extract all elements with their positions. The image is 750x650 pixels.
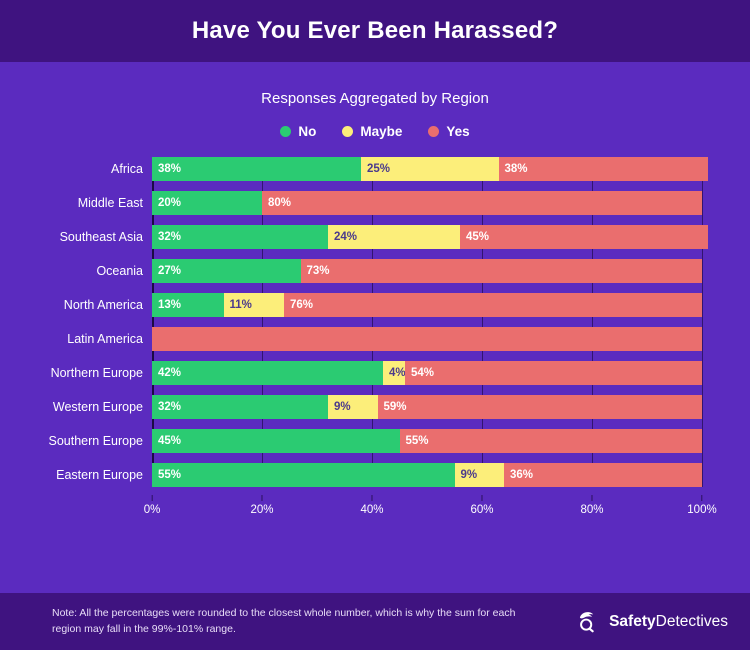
x-tick-mark: [372, 495, 373, 501]
detective-logo-icon: [576, 609, 601, 634]
bar-segment-maybe[interactable]: 25%: [361, 157, 499, 181]
row-label-northern-europe: Northern Europe: [51, 361, 143, 385]
bar-row[interactable]: Western Europe32%9%59%: [152, 395, 702, 419]
brand-logo[interactable]: SafetyDetectives: [576, 609, 728, 634]
bar-segment-no[interactable]: 13%: [152, 293, 224, 317]
chart-subtitle: Responses Aggregated by Region: [0, 90, 750, 107]
stacked-bar: 13%11%76%: [152, 293, 702, 317]
bar-segment-value: 20%: [152, 197, 181, 209]
bar-segment-value: 32%: [152, 231, 181, 243]
row-label-north-america: North America: [64, 293, 143, 317]
bar-segment-value: 59%: [378, 401, 407, 413]
stacked-bar: 32%9%59%: [152, 395, 702, 419]
legend-dot-icon: [342, 126, 353, 137]
header-band: Have You Ever Been Harassed?: [0, 0, 750, 62]
x-tick-60: 60%: [470, 495, 493, 516]
bar-segment-value: 55%: [152, 469, 181, 481]
bar-segment-maybe[interactable]: 24%: [328, 225, 460, 249]
x-tick-label: 20%: [250, 504, 273, 516]
legend-label: Maybe: [360, 124, 402, 139]
x-tick-label: 60%: [470, 504, 493, 516]
bar-segment-value: 42%: [152, 367, 181, 379]
bar-segment-value: 24%: [328, 231, 357, 243]
bar-row[interactable]: Southeast Asia32%24%45%: [152, 225, 702, 249]
legend-label: No: [298, 124, 316, 139]
bar-segment-value: 80%: [262, 197, 291, 209]
bar-row[interactable]: Middle East20%80%: [152, 191, 702, 215]
x-axis: 0%20%40%60%80%100%: [152, 495, 702, 525]
x-tick-label: 100%: [687, 504, 716, 516]
x-tick-mark: [701, 495, 702, 501]
bar-segment-value: 9%: [328, 401, 351, 413]
gridline-100: [702, 157, 703, 487]
bar-segment-maybe[interactable]: 4%: [383, 361, 405, 385]
row-label-oceania: Oceania: [96, 259, 143, 283]
bar-segment-value: 76%: [284, 299, 313, 311]
plot-wrapper: Africa38%25%38%Middle East20%80%Southeas…: [0, 157, 750, 525]
legend-dot-icon: [428, 126, 439, 137]
bar-segment-no[interactable]: 55%: [152, 463, 455, 487]
x-tick-40: 40%: [360, 495, 383, 516]
x-tick-label: 0%: [144, 504, 161, 516]
bar-segment-value: 45%: [152, 435, 181, 447]
bar-segment-yes[interactable]: 54%: [405, 361, 702, 385]
bar-segment-value: 36%: [504, 469, 533, 481]
bar-segment-yes[interactable]: 38%: [499, 157, 708, 181]
bar-segment-value: 55%: [400, 435, 429, 447]
x-tick-mark: [592, 495, 593, 501]
bar-segment-value: 9%: [455, 469, 478, 481]
bar-segment-no[interactable]: 45%: [152, 429, 400, 453]
row-label-africa: Africa: [111, 157, 143, 181]
stacked-bar: 27%73%: [152, 259, 702, 283]
legend-item-no[interactable]: No: [280, 124, 316, 139]
bar-segment-yes[interactable]: 73%: [301, 259, 703, 283]
row-label-eastern-europe: Eastern Europe: [56, 463, 143, 487]
bar-segment-yes[interactable]: 76%: [284, 293, 702, 317]
bar-segment-yes[interactable]: 55%: [400, 429, 703, 453]
stacked-bar: 20%80%: [152, 191, 702, 215]
bar-segment-no[interactable]: 32%: [152, 225, 328, 249]
bar-row[interactable]: Latin America: [152, 327, 702, 351]
bar-segment-yes[interactable]: 80%: [262, 191, 702, 215]
row-label-western-europe: Western Europe: [53, 395, 143, 419]
stacked-bar: [152, 327, 702, 351]
footer-note: Note: All the percentages were rounded t…: [52, 606, 522, 636]
x-tick-20: 20%: [250, 495, 273, 516]
chart-body: Responses Aggregated by Region NoMaybeYe…: [0, 62, 750, 593]
stacked-bar: 32%24%45%: [152, 225, 708, 249]
x-tick-mark: [262, 495, 263, 501]
bar-segment-yes[interactable]: [152, 327, 702, 351]
row-label-latin-america: Latin America: [67, 327, 143, 351]
bar-segment-value: 13%: [152, 299, 181, 311]
bar-segment-value: 27%: [152, 265, 181, 277]
bar-segment-no[interactable]: 20%: [152, 191, 262, 215]
plot-area: Africa38%25%38%Middle East20%80%Southeas…: [152, 157, 702, 487]
bar-row[interactable]: Africa38%25%38%: [152, 157, 702, 181]
bar-segment-maybe[interactable]: 9%: [455, 463, 505, 487]
bar-row[interactable]: Southern Europe45%55%: [152, 429, 702, 453]
bar-segment-no[interactable]: 38%: [152, 157, 361, 181]
bar-segment-maybe[interactable]: 9%: [328, 395, 378, 419]
page-title: Have You Ever Been Harassed?: [192, 17, 558, 45]
x-tick-mark: [482, 495, 483, 501]
bar-segment-value: 38%: [152, 163, 181, 175]
legend-label: Yes: [446, 124, 469, 139]
row-label-southern-europe: Southern Europe: [48, 429, 143, 453]
bar-row[interactable]: Oceania27%73%: [152, 259, 702, 283]
bar-segment-value: 73%: [301, 265, 330, 277]
x-tick-label: 40%: [360, 504, 383, 516]
stacked-bar: 55%9%36%: [152, 463, 702, 487]
stacked-bar: 38%25%38%: [152, 157, 708, 181]
x-tick-mark: [152, 495, 153, 501]
row-label-southeast-asia: Southeast Asia: [60, 225, 143, 249]
x-tick-80: 80%: [580, 495, 603, 516]
bar-segment-yes[interactable]: 59%: [378, 395, 703, 419]
legend-dot-icon: [280, 126, 291, 137]
bar-rows: Africa38%25%38%Middle East20%80%Southeas…: [152, 157, 702, 487]
brand-text: SafetyDetectives: [609, 613, 728, 631]
x-tick-label: 80%: [580, 504, 603, 516]
brand-name-light: Detectives: [656, 613, 728, 630]
stacked-bar: 45%55%: [152, 429, 702, 453]
row-label-middle-east: Middle East: [78, 191, 143, 215]
bar-segment-no[interactable]: 42%: [152, 361, 383, 385]
bar-segment-value: 38%: [499, 163, 528, 175]
legend-item-maybe[interactable]: Maybe: [342, 124, 402, 139]
legend-item-yes[interactable]: Yes: [428, 124, 469, 139]
bar-segment-no[interactable]: 32%: [152, 395, 328, 419]
bar-row[interactable]: North America13%11%76%: [152, 293, 702, 317]
bar-segment-value: 54%: [405, 367, 434, 379]
bar-segment-yes[interactable]: 36%: [504, 463, 702, 487]
footer-band: Note: All the percentages were rounded t…: [0, 593, 750, 650]
infographic-root: Have You Ever Been Harassed? Responses A…: [0, 0, 750, 650]
x-tick-0: 0%: [144, 495, 161, 516]
stacked-bar: 42%4%54%: [152, 361, 702, 385]
bar-segment-value: 4%: [383, 367, 405, 379]
bar-segment-value: 45%: [460, 231, 489, 243]
brand-name-bold: Safety: [609, 613, 656, 630]
chart-legend: NoMaybeYes: [0, 124, 750, 139]
bar-segment-value: 25%: [361, 163, 390, 175]
bar-segment-yes[interactable]: 45%: [460, 225, 708, 249]
bar-segment-maybe[interactable]: 11%: [224, 293, 285, 317]
bar-segment-value: 32%: [152, 401, 181, 413]
bar-row[interactable]: Eastern Europe55%9%36%: [152, 463, 702, 487]
bar-segment-no[interactable]: 27%: [152, 259, 301, 283]
bar-segment-value: 11%: [224, 299, 252, 311]
bar-row[interactable]: Northern Europe42%4%54%: [152, 361, 702, 385]
x-tick-100: 100%: [687, 495, 716, 516]
